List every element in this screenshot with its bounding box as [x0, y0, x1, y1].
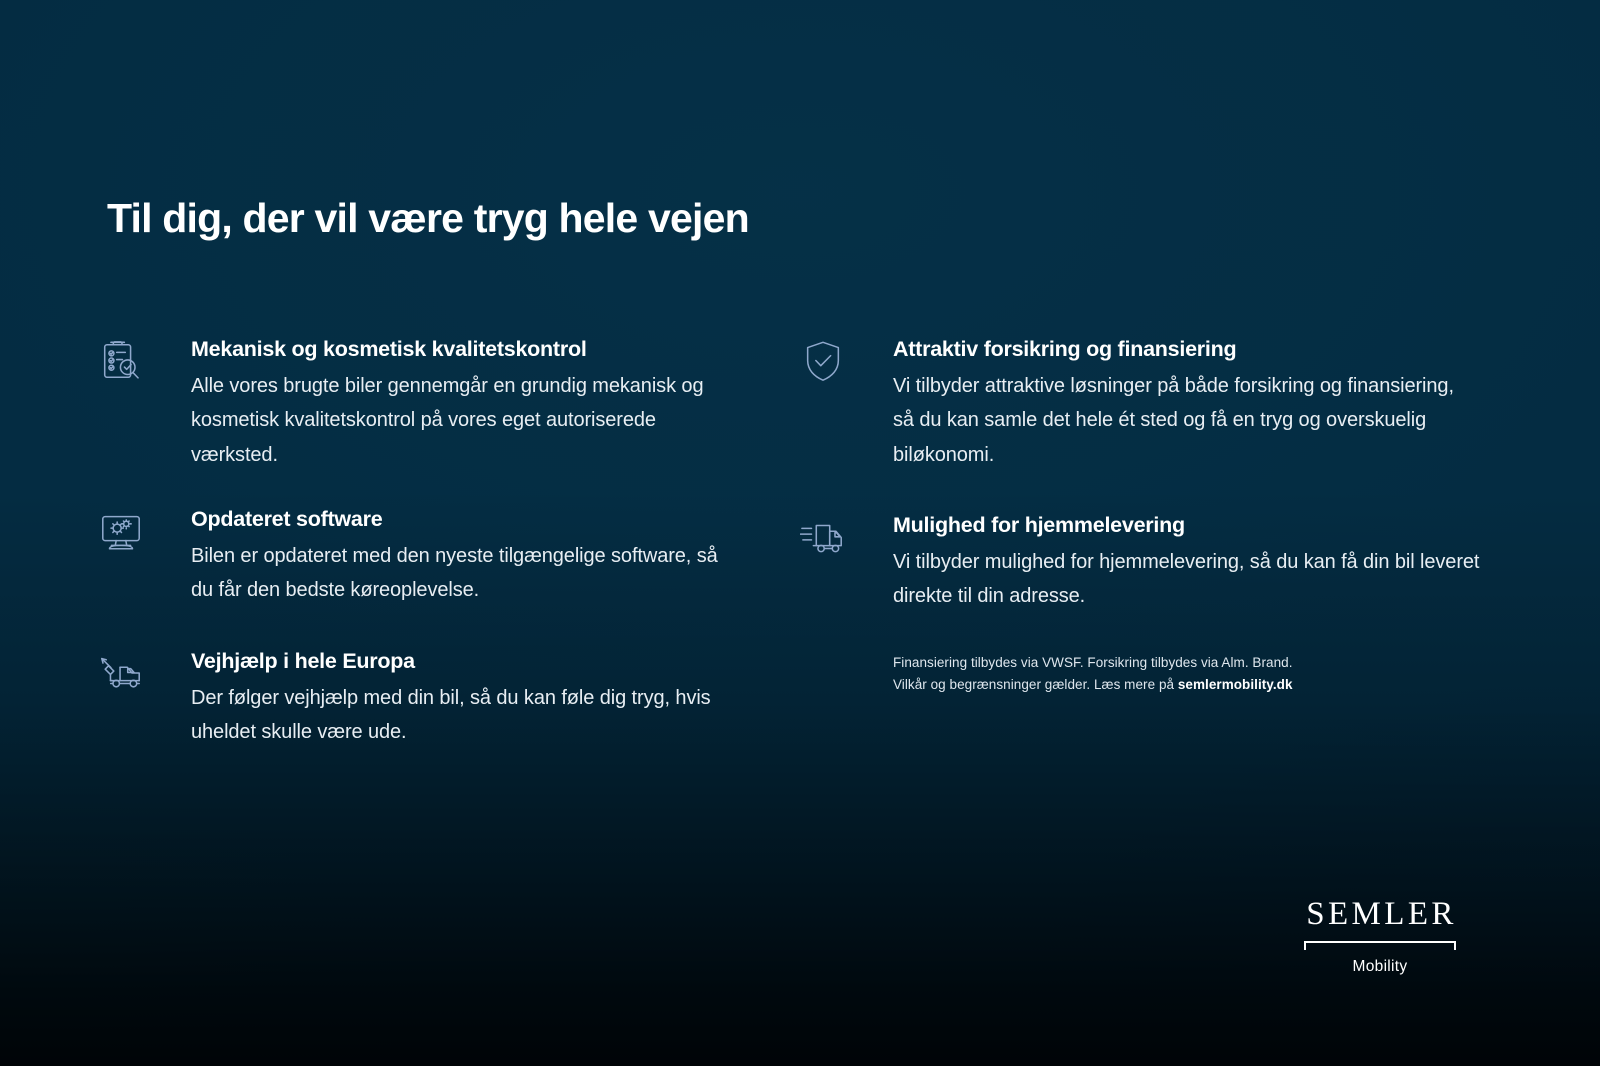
feature-body: Mekanisk og kosmetisk kvalitetskontrol A…	[156, 336, 738, 472]
feature-title: Attraktiv forsikring og finansiering	[893, 336, 1480, 363]
feature-body: Vejhjælp i hele Europa Der følger vejhjæ…	[156, 648, 738, 750]
feature-description: Bilen er opdateret med den nyeste tilgæn…	[191, 539, 738, 608]
logo-divider-rule	[1304, 941, 1456, 950]
feature-title: Vejhjælp i hele Europa	[191, 648, 738, 675]
feature-body: Mulighed for hjemmelevering Vi tilbyder …	[858, 512, 1480, 614]
disclaimer-line-2: Vilkår og begrænsninger gælder. Læs mere…	[893, 674, 1480, 696]
logo-rule-tick-right	[1454, 941, 1456, 950]
feature-updated-software: Opdateret software Bilen er opdateret me…	[98, 506, 738, 608]
logo-rule-bar	[1304, 941, 1456, 943]
feature-title: Opdateret software	[191, 506, 738, 533]
feature-title: Mekanisk og kosmetisk kvalitetskontrol	[191, 336, 738, 363]
feature-description: Vi tilbyder attraktive løsninger på både…	[893, 369, 1480, 472]
feature-home-delivery: Mulighed for hjemmelevering Vi tilbyder …	[800, 512, 1480, 614]
features-column-right: Attraktiv forsikring og finansiering Vi …	[800, 336, 1480, 696]
shield-check-icon	[800, 336, 858, 388]
logo-rule-tick-left	[1304, 941, 1306, 950]
feature-body: Attraktiv forsikring og finansiering Vi …	[858, 336, 1480, 472]
clipboard-checklist-magnifier-icon	[98, 336, 156, 388]
disclaimer-line-1: Finansiering tilbydes via VWSF. Forsikri…	[893, 652, 1480, 674]
feature-description: Vi tilbyder mulighed for hjemmelevering,…	[893, 545, 1480, 614]
page-title: Til dig, der vil være tryg hele vejen	[107, 195, 749, 242]
feature-title: Mulighed for hjemmelevering	[893, 512, 1480, 539]
feature-description: Der følger vejhjælp med din bil, så du k…	[191, 681, 738, 750]
semler-mobility-logo: SEMLER Mobility	[1300, 898, 1460, 976]
semlermobility-link[interactable]: semlermobility.dk	[1178, 677, 1293, 692]
tow-truck-icon	[98, 648, 156, 700]
feature-quality-control: Mekanisk og kosmetisk kvalitetskontrol A…	[98, 336, 738, 472]
logo-subtitle: Mobility	[1300, 958, 1460, 976]
features-column-left: Mekanisk og kosmetisk kvalitetskontrol A…	[98, 336, 738, 783]
feature-insurance-financing: Attraktiv forsikring og finansiering Vi …	[800, 336, 1480, 472]
delivery-truck-icon	[800, 512, 858, 564]
feature-description: Alle vores brugte biler gennemgår en gru…	[191, 369, 738, 472]
promo-page: Til dig, der vil være tryg hele vejen	[0, 0, 1600, 1066]
feature-body: Opdateret software Bilen er opdateret me…	[156, 506, 738, 608]
logo-wordmark: SEMLER	[1300, 898, 1460, 931]
disclaimer: Finansiering tilbydes via VWSF. Forsikri…	[800, 652, 1480, 696]
monitor-gears-icon	[98, 506, 156, 558]
feature-roadside-assistance: Vejhjælp i hele Europa Der følger vejhjæ…	[98, 648, 738, 750]
disclaimer-line-2-text: Vilkår og begrænsninger gælder. Læs mere…	[893, 677, 1178, 692]
